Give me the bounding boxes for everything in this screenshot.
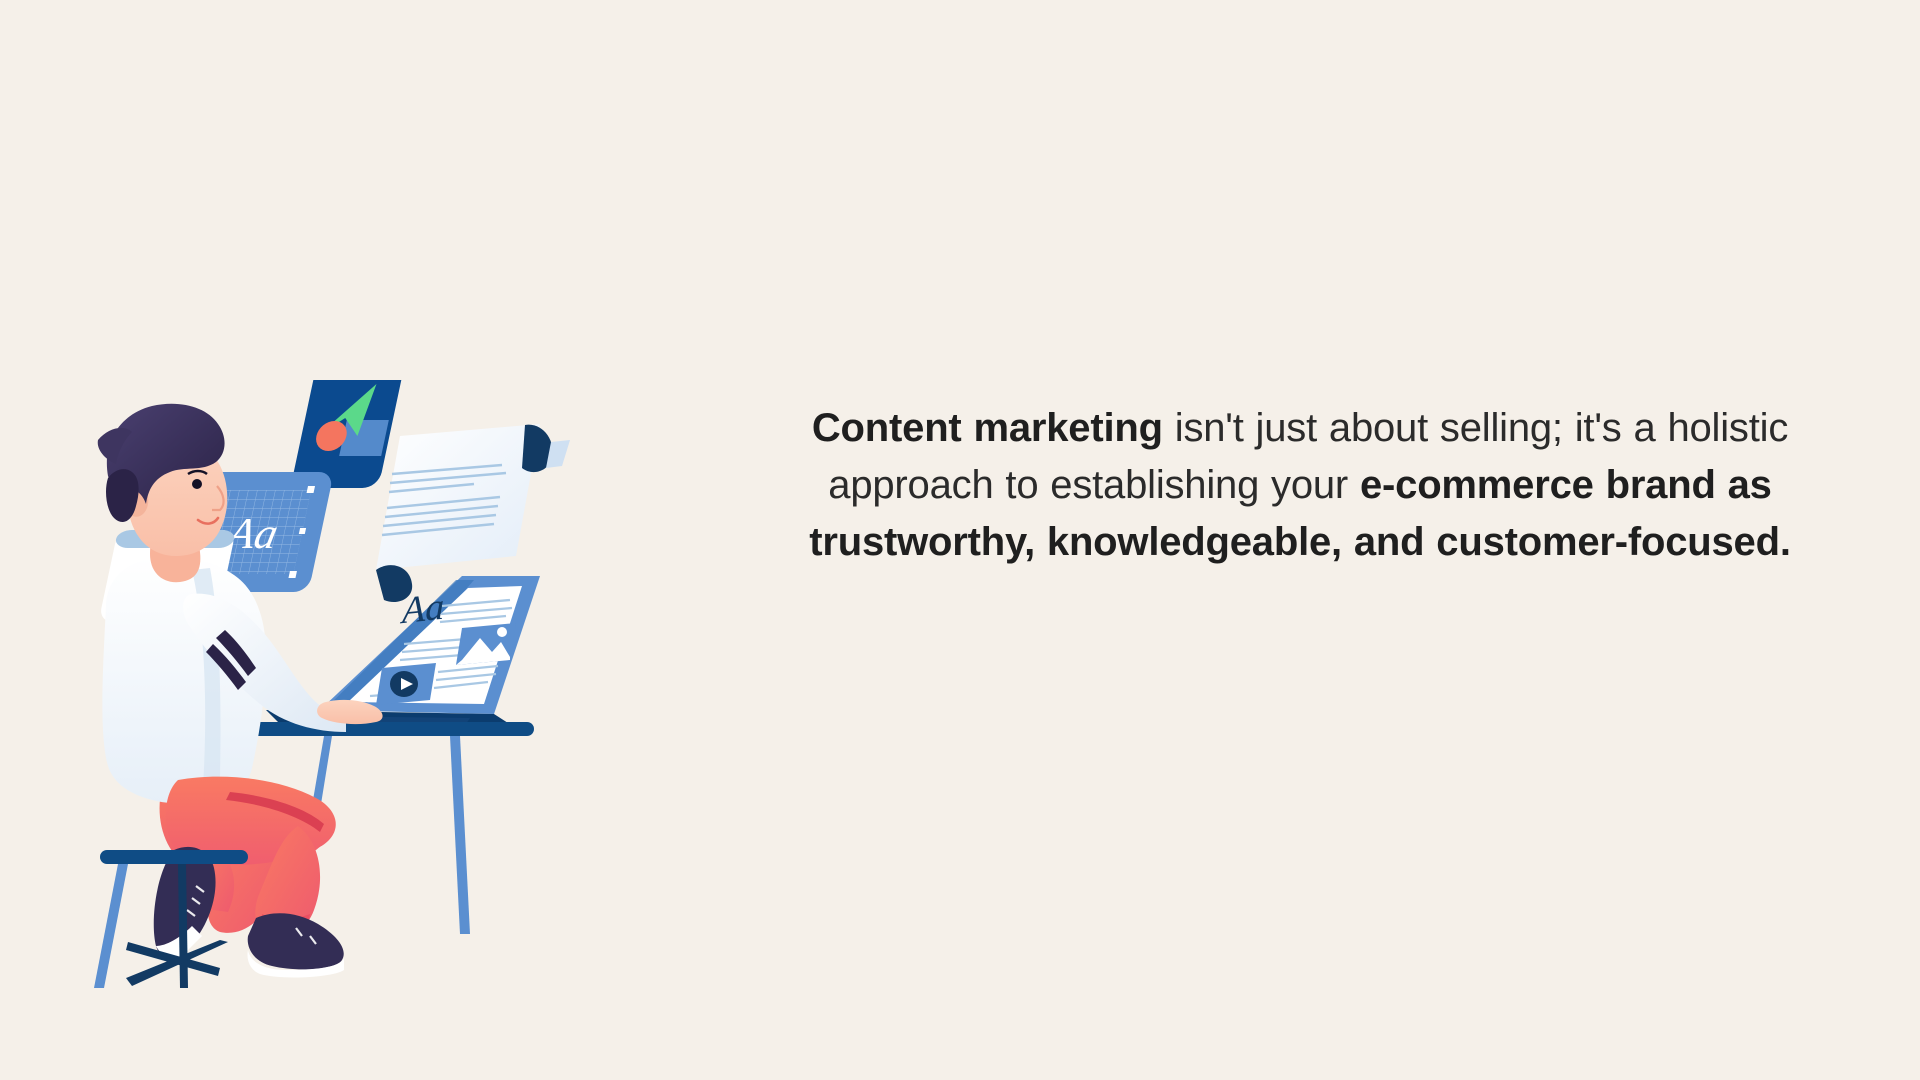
- image-placeholder-icon: [456, 623, 516, 665]
- page-canvas: Aa: [0, 0, 1920, 1080]
- video-thumb-icon: [376, 663, 436, 705]
- quote-text: Content marketing isn't just about selli…: [740, 400, 1860, 570]
- stool-seat: [100, 850, 248, 864]
- desk-leg-right: [450, 736, 470, 934]
- hero-illustration: Aa: [70, 380, 670, 1000]
- shoe-front: [248, 913, 345, 977]
- laptop-document-glyph: Aa: [399, 586, 444, 633]
- quote-block: Content marketing isn't just about selli…: [740, 400, 1860, 570]
- eye: [192, 479, 202, 489]
- stool-leg-left: [94, 864, 128, 988]
- quote-emphasis-lead: Content marketing: [812, 406, 1163, 450]
- illustration-svg: Aa: [70, 380, 670, 1000]
- design-card: [290, 380, 406, 488]
- article-sheet: [376, 424, 570, 602]
